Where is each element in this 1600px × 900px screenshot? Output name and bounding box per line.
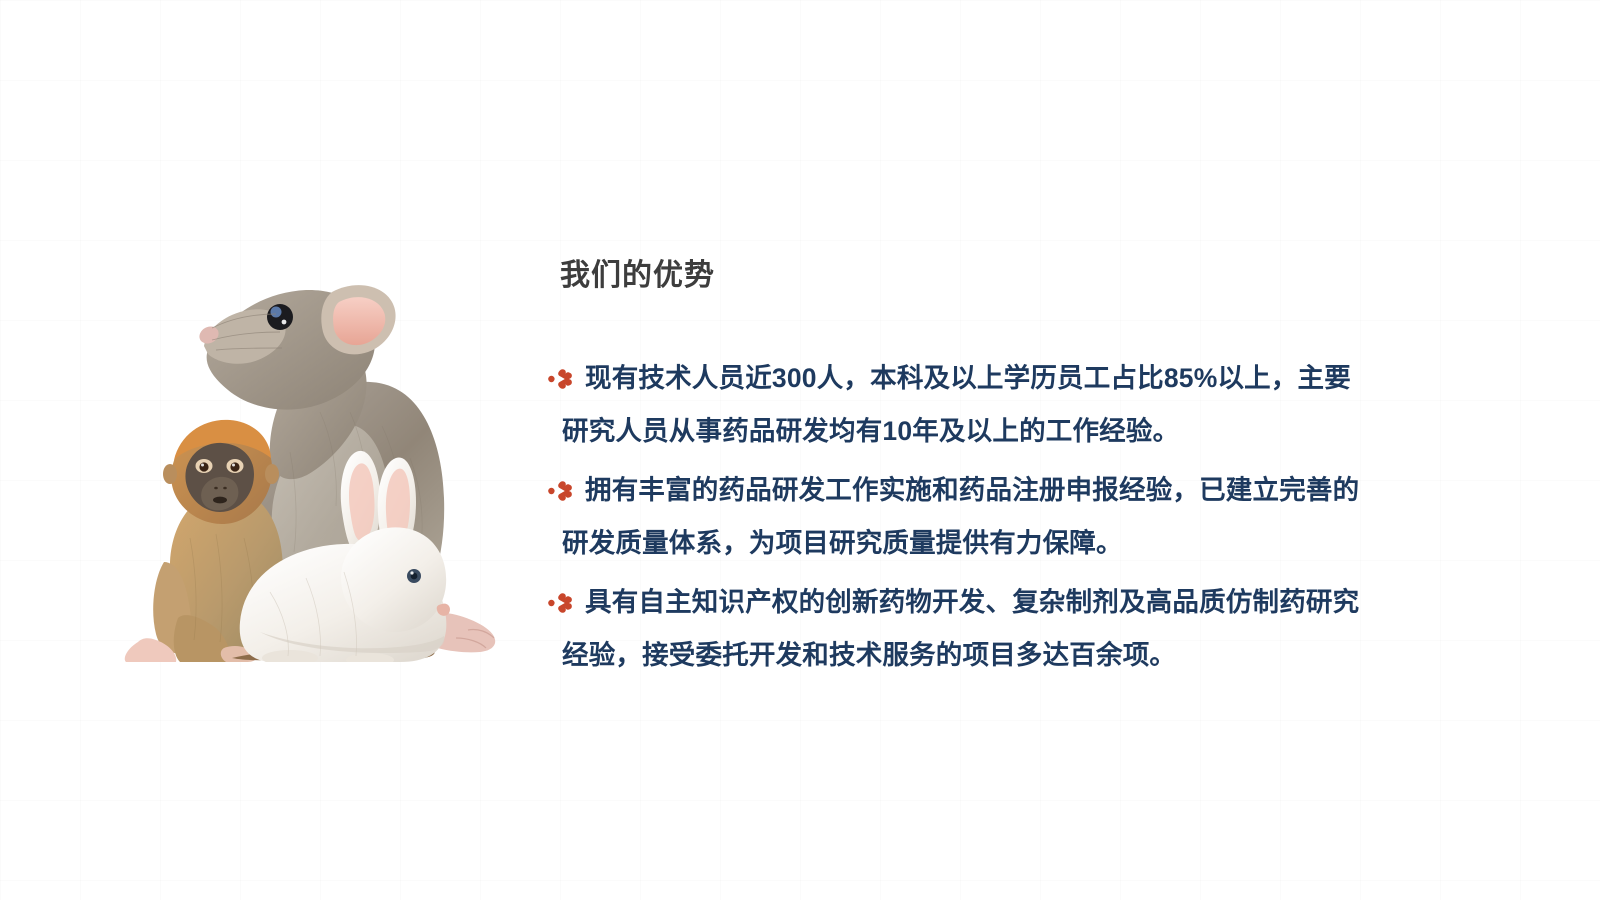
bullet-text: 现有技术人员近300人，本科及以上学历员工占比85%以上，主要	[585, 352, 1351, 405]
asterisk-bullet-icon	[546, 576, 576, 629]
bullet-text: 经验，接受委托开发和技术服务的项目多达百余项。	[562, 629, 1176, 682]
bullet-text: 具有自主知识产权的创新药物开发、复杂制剂及高品质仿制药研究	[585, 576, 1359, 629]
bullet-indent-spacer	[546, 405, 562, 458]
asterisk-bullet-icon	[546, 464, 576, 517]
list-item: 现有技术人员近300人，本科及以上学历员工占比85%以上，主要 研究人员从事药品…	[546, 352, 1386, 458]
lab-animals-photo	[120, 262, 520, 662]
bullet-first-line: 具有自主知识产权的创新药物开发、复杂制剂及高品质仿制药研究	[546, 576, 1386, 629]
list-item: 拥有丰富的药品研发工作实施和药品注册申报经验，已建立完善的 研发质量体系，为项目…	[546, 464, 1386, 570]
bullet-text: 拥有丰富的药品研发工作实施和药品注册申报经验，已建立完善的	[585, 464, 1359, 517]
bullet-continuation-line: 研发质量体系，为项目研究质量提供有力保障。	[546, 517, 1386, 570]
advantages-content: 我们的优势	[546, 258, 1386, 688]
advantages-bullet-list: 现有技术人员近300人，本科及以上学历员工占比85%以上，主要 研究人员从事药品…	[546, 352, 1386, 682]
bullet-indent-spacer	[546, 629, 562, 682]
asterisk-bullet-icon	[546, 352, 576, 405]
bullet-first-line: 现有技术人员近300人，本科及以上学历员工占比85%以上，主要	[546, 352, 1386, 405]
bullet-first-line: 拥有丰富的药品研发工作实施和药品注册申报经验，已建立完善的	[546, 464, 1386, 517]
bullet-continuation-line: 经验，接受委托开发和技术服务的项目多达百余项。	[546, 629, 1386, 682]
list-item: 具有自主知识产权的创新药物开发、复杂制剂及高品质仿制药研究 经验，接受委托开发和…	[546, 576, 1386, 682]
section-title: 我们的优势	[560, 258, 1386, 294]
bullet-continuation-line: 研究人员从事药品研发均有10年及以上的工作经验。	[546, 405, 1386, 458]
bullet-text: 研发质量体系，为项目研究质量提供有力保障。	[562, 517, 1123, 570]
slide-canvas: 我们的优势	[0, 0, 1600, 900]
bullet-indent-spacer	[546, 517, 562, 570]
bullet-text: 研究人员从事药品研发均有10年及以上的工作经验。	[562, 405, 1179, 458]
